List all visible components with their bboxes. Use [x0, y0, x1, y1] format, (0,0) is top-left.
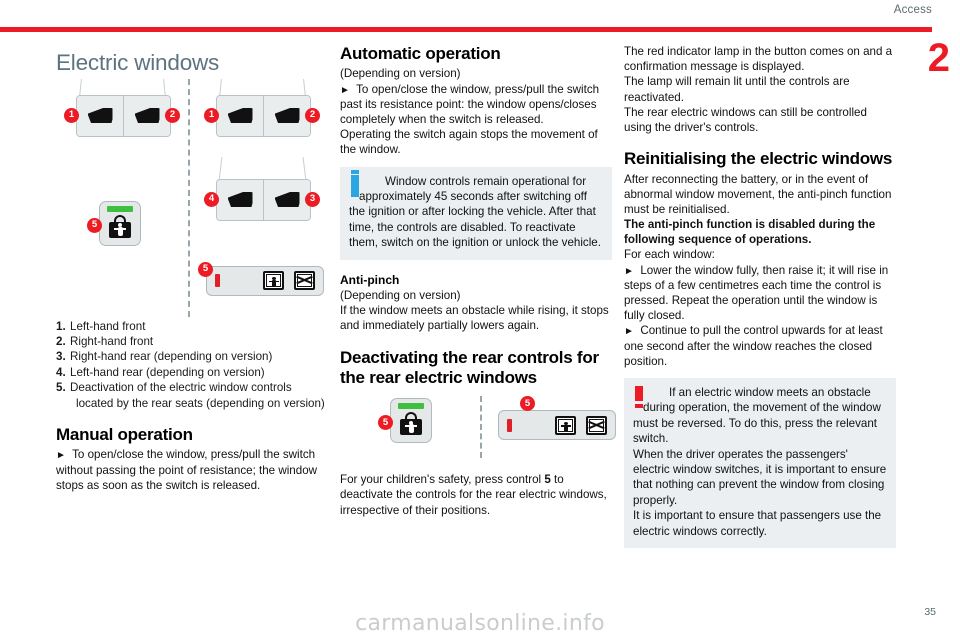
bullet-arrow-icon: ►: [56, 450, 66, 461]
child-lock-mini-icon: [555, 416, 576, 435]
heading-manual-operation: Manual operation: [56, 425, 328, 445]
window-icon: [135, 108, 160, 123]
info-callout-box: Window controls remain operational for a…: [340, 167, 612, 260]
intro-text-3: The rear electric windows can still be c…: [624, 105, 896, 135]
antipinch-body: If the window meets an obstacle while ri…: [340, 303, 612, 333]
child-lock-icon: [109, 215, 131, 238]
item-number: 5.: [56, 380, 70, 395]
info-icon: [351, 175, 359, 197]
automatic-body-1: ► To open/close the window, press/pull t…: [340, 82, 612, 128]
list-item: 4.Left-hand rear (depending on version): [56, 365, 328, 380]
child-lock-mini-icon: [263, 271, 284, 290]
site-watermark: carmanualsonline.info: [0, 611, 960, 636]
reinit-step-2-text: Continue to pull the control upwards for…: [624, 324, 883, 367]
item-number: 2.: [56, 334, 70, 349]
reinit-bold-note: The anti-pinch function is disabled duri…: [624, 217, 896, 247]
warning-callout-box: If an electric window meets an obstacle …: [624, 378, 896, 548]
automatic-body-1-text: To open/close the window, press/pull the…: [340, 83, 599, 126]
figure-rear-deactivation-controls: 5 5: [340, 394, 612, 472]
stem-line: [303, 79, 306, 97]
column-left: Electric windows 1 2: [56, 44, 328, 493]
callout-badge-3: 3: [305, 192, 320, 207]
callout-badge-1: 1: [64, 108, 79, 123]
panel-rear-deactivation-strip: 5: [498, 410, 616, 440]
header-rule: [0, 27, 932, 32]
list-item: 3.Right-hand rear (depending on version): [56, 349, 328, 364]
item-number: 3.: [56, 349, 70, 364]
switch-left-hand-front[interactable]: [77, 96, 124, 136]
switch-row-rear[interactable]: [216, 179, 311, 221]
switch-right-hand-rear[interactable]: [264, 180, 310, 220]
column-middle: Automatic operation (Depending on versio…: [340, 44, 612, 518]
intro-text-1: The red indicator lamp in the button com…: [624, 44, 896, 74]
stem-line: [79, 79, 82, 97]
heading-deactivating-rear-controls: Deactivating the rear controls for the r…: [340, 348, 612, 389]
window-icon: [275, 192, 300, 207]
stem-line: [303, 157, 307, 181]
stem-line: [219, 157, 223, 181]
red-led-indicator: [215, 274, 220, 287]
stem-line: [219, 79, 222, 97]
section-header-label: Access: [894, 4, 932, 16]
switch-row-front[interactable]: [76, 95, 171, 137]
item-label: Left-hand front: [70, 320, 145, 333]
rear-control-deactivation-bar[interactable]: [498, 410, 616, 440]
panel-child-lock-left: 5: [99, 201, 141, 246]
callout-badge-2: 2: [165, 108, 180, 123]
switch-left-hand-front[interactable]: [217, 96, 264, 136]
heading-automatic-operation: Automatic operation: [340, 44, 612, 64]
deactivation-instruction: For your children's safety, press contro…: [340, 472, 612, 518]
callout-badge-2: 2: [305, 108, 320, 123]
page-number: 35: [924, 606, 936, 618]
stem-line: [163, 79, 166, 97]
deactivation-instruction-pre: For your children's safety, press contro…: [340, 473, 544, 486]
green-led-indicator: [398, 403, 424, 409]
automatic-body-2: Operating the switch again stops the mov…: [340, 127, 612, 157]
callout-badge-1: 1: [204, 108, 219, 123]
window-icon: [88, 108, 113, 123]
bullet-arrow-icon: ►: [624, 326, 634, 337]
callout-badge-4: 4: [204, 192, 219, 207]
reinit-step-1: ► Lower the window fully, then raise it;…: [624, 263, 896, 324]
switch-right-hand-front[interactable]: [124, 96, 170, 136]
page-title: Electric windows: [56, 50, 328, 77]
callout-badge-5: 5: [198, 262, 213, 277]
child-lock-button[interactable]: [99, 201, 141, 246]
switch-left-hand-rear[interactable]: [217, 180, 264, 220]
window-disabled-icon: [294, 271, 315, 290]
manual-page: Access 2 Electric windows 1 2: [0, 0, 960, 640]
manual-operation-body: ► To open/close the window, press/pull t…: [56, 447, 328, 493]
item-label: Right-hand rear (depending on version): [70, 350, 272, 363]
list-item: 2.Right-hand front: [56, 334, 328, 349]
switch-row-front[interactable]: [216, 95, 311, 137]
list-item: 5.Deactivation of the electric window co…: [56, 380, 328, 411]
switch-right-hand-front[interactable]: [264, 96, 310, 136]
reinit-step-2: ► Continue to pull the control upwards f…: [624, 323, 896, 369]
intro-text-2: The lamp will remain lit until the contr…: [624, 74, 896, 104]
automatic-version-note: (Depending on version): [340, 66, 612, 81]
red-led-indicator: [507, 419, 512, 432]
window-icon: [275, 108, 300, 123]
warning-text-3: It is important to ensure that passenger…: [633, 508, 887, 539]
item-number: 4.: [56, 365, 70, 380]
item-label: Right-hand front: [70, 335, 153, 348]
bullet-arrow-icon: ►: [340, 85, 350, 96]
window-icon: [228, 192, 253, 207]
item-label: Deactivation of the electric window cont…: [70, 381, 325, 409]
manual-operation-text: To open/close the window, press/pull the…: [56, 448, 317, 491]
warning-text-2: When the driver operates the passengers'…: [633, 447, 887, 509]
warning-icon: [635, 386, 643, 401]
reinit-body-1: After reconnecting the battery, or in th…: [624, 172, 896, 218]
info-callout-text: Window controls remain operational for a…: [349, 174, 603, 251]
item-label: Left-hand rear (depending on version): [70, 366, 265, 379]
panel-rear-deactivation-strip: 5: [206, 266, 324, 296]
heading-anti-pinch: Anti-pinch: [340, 273, 612, 287]
warning-text-1: If an electric window meets an obstacle …: [633, 385, 887, 447]
legend-list: 1.Left-hand front 2.Right-hand front 3.R…: [56, 319, 328, 411]
list-item: 1.Left-hand front: [56, 319, 328, 334]
panel-left-front-switches: 1 2: [76, 95, 171, 137]
figure-divider: [188, 79, 190, 317]
window-disabled-icon: [586, 416, 607, 435]
panel-right-front-switches: 1 2: [216, 95, 311, 137]
callout-badge-5: 5: [87, 218, 102, 233]
antipinch-version-note: (Depending on version): [340, 288, 612, 303]
panel-child-lock-button: 5: [390, 398, 432, 443]
bullet-arrow-icon: ►: [624, 266, 634, 277]
child-lock-button[interactable]: [390, 398, 432, 443]
figure-window-switch-panels: 1 2 5 1 2: [56, 79, 328, 317]
heading-reinitialising: Reinitialising the electric windows: [624, 149, 896, 169]
item-number: 1.: [56, 319, 70, 334]
column-right: The red indicator lamp in the button com…: [624, 44, 896, 552]
rear-control-deactivation-bar[interactable]: [206, 266, 324, 296]
child-lock-icon: [400, 412, 422, 435]
green-led-indicator: [107, 206, 133, 212]
window-icon: [228, 108, 253, 123]
chapter-number: 2: [928, 38, 950, 78]
reinit-step-1-text: Lower the window fully, then raise it; i…: [624, 264, 888, 323]
panel-rear-switches: 4 3: [216, 179, 311, 221]
reinit-for-each: For each window:: [624, 247, 896, 262]
callout-badge-5: 5: [520, 396, 535, 411]
figure-divider: [480, 396, 482, 458]
